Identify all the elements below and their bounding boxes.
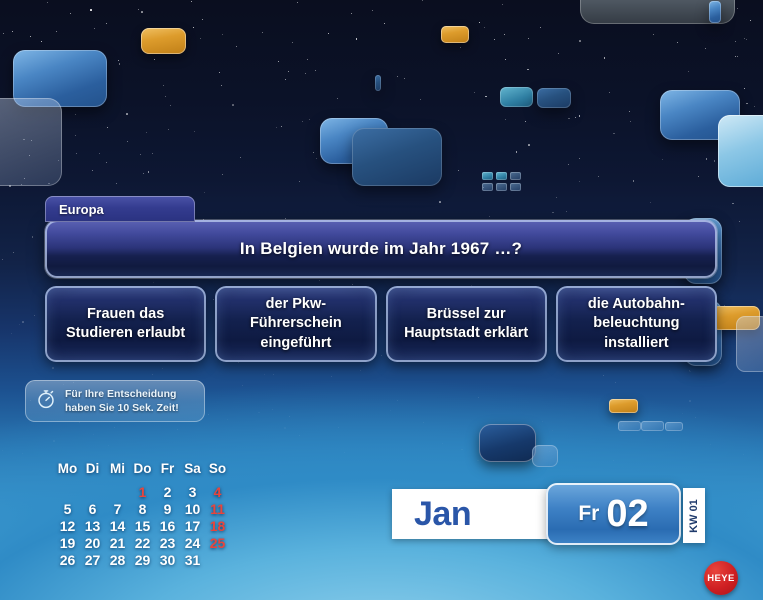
weekday-header: Do — [130, 460, 155, 483]
calendar-day[interactable]: 23 — [155, 534, 180, 551]
question-panel: In Belgien wurde im Jahr 1967 …? — [45, 220, 717, 278]
calendar-week-row: 1234 — [55, 483, 230, 500]
bg-tile-grid — [482, 172, 521, 191]
calendar-day[interactable]: 8 — [130, 500, 155, 517]
bg-grid-cell — [510, 172, 521, 180]
answer-label: die Autobahn-beleuchtung installiert — [564, 295, 709, 352]
bg-tile-orange-4 — [609, 399, 638, 413]
answer-option-3[interactable]: Brüssel zur Hauptstadt erklärt — [386, 286, 547, 362]
answer-option-1[interactable]: Frauen das Studieren erlaubt — [45, 286, 206, 362]
answer-options: Frauen das Studieren erlaubt der Pkw-Füh… — [45, 286, 717, 362]
calendar-day[interactable]: 26 — [55, 551, 80, 568]
stopwatch-icon — [35, 388, 57, 415]
calendar-quiz-page: Europa In Belgien wurde im Jahr 1967 …? … — [0, 0, 763, 600]
answer-option-2[interactable]: der Pkw-Führerschein eingeführt — [215, 286, 376, 362]
question-text: In Belgien wurde im Jahr 1967 …? — [240, 239, 522, 259]
calendar-day[interactable]: 6 — [80, 500, 105, 517]
calendar-day[interactable]: 17 — [180, 517, 205, 534]
day-box: Fr 02 — [546, 483, 681, 545]
calendar-week-row: 19202122232425 — [55, 534, 230, 551]
day-number: 02 — [606, 495, 648, 533]
bg-tile-dark-1 — [352, 128, 442, 186]
calendar-header-row: Mo Di Mi Do Fr Sa So — [55, 460, 230, 483]
week-number-label: KW 01 — [688, 499, 700, 533]
month-label: Jan — [392, 495, 471, 534]
answer-label: Brüssel zur Hauptstadt erklärt — [394, 305, 539, 343]
month-box: Jan — [392, 489, 552, 539]
calendar-day[interactable]: 15 — [130, 517, 155, 534]
heye-logo: HEYE — [704, 561, 738, 595]
bg-grid-cell — [482, 183, 493, 191]
bg-tile-orange-1 — [141, 28, 186, 54]
month-calendar: Mo Di Mi Do Fr Sa So 1234567891011121314… — [55, 460, 230, 568]
heye-logo-text: HEYE — [707, 573, 734, 584]
weekday-header: Fr — [155, 460, 180, 483]
calendar-day[interactable]: 22 — [130, 534, 155, 551]
calendar-week-row: 567891011 — [55, 500, 230, 517]
bg-tile-soft-1 — [618, 421, 641, 431]
calendar-day[interactable]: 2 — [155, 483, 180, 500]
week-number-box: KW 01 — [683, 488, 705, 543]
calendar-week-row: 12131415161718 — [55, 517, 230, 534]
bg-grid-cell — [496, 183, 507, 191]
bg-grid-cell — [510, 183, 521, 191]
weekday-header: So — [205, 460, 230, 483]
calendar-table: Mo Di Mi Do Fr Sa So 1234567891011121314… — [55, 460, 230, 568]
calendar-day[interactable]: 12 — [55, 517, 80, 534]
calendar-day[interactable]: 21 — [105, 534, 130, 551]
timer-hint-text: Für Ihre Entscheidung haben Sie 10 Sek. … — [65, 387, 195, 415]
calendar-day[interactable]: 31 — [180, 551, 205, 568]
calendar-day[interactable]: 1 — [130, 483, 155, 500]
bg-tile-dark-3 — [375, 75, 381, 91]
bg-tile-soft-3 — [665, 422, 683, 431]
bg-tile-orange-2 — [441, 26, 469, 43]
bg-tile-ltblue-1 — [718, 115, 763, 187]
weekday-header: Mo — [55, 460, 80, 483]
calendar-day[interactable]: 11 — [205, 500, 230, 517]
calendar-day[interactable]: 20 — [80, 534, 105, 551]
answer-option-4[interactable]: die Autobahn-beleuchtung installiert — [556, 286, 717, 362]
calendar-day[interactable]: 18 — [205, 517, 230, 534]
calendar-day-empty — [80, 483, 105, 500]
calendar-day[interactable]: 10 — [180, 500, 205, 517]
bg-tile-blue-4 — [709, 1, 721, 23]
bg-tile-dark-2 — [537, 88, 571, 108]
calendar-day-empty — [105, 483, 130, 500]
category-tab[interactable]: Europa — [45, 196, 195, 222]
calendar-day[interactable]: 13 — [80, 517, 105, 534]
calendar-day[interactable]: 16 — [155, 517, 180, 534]
category-label: Europa — [59, 202, 104, 217]
bg-tile-ghost-1 — [0, 98, 62, 186]
calendar-day[interactable]: 3 — [180, 483, 205, 500]
calendar-day-empty — [205, 551, 230, 568]
calendar-day-empty — [55, 483, 80, 500]
weekday-header: Di — [80, 460, 105, 483]
calendar-week-row: 262728293031 — [55, 551, 230, 568]
calendar-day[interactable]: 4 — [205, 483, 230, 500]
bg-tile-soft-4 — [532, 445, 558, 467]
calendar-day[interactable]: 7 — [105, 500, 130, 517]
bg-tile-navy-1 — [479, 424, 536, 462]
bg-tile-teal-1 — [500, 87, 533, 107]
weekday-header: Sa — [180, 460, 205, 483]
calendar-body: 1234567891011121314151617181920212223242… — [55, 483, 230, 568]
quiz-panel: Europa In Belgien wurde im Jahr 1967 …? … — [45, 196, 717, 362]
bg-grid-cell — [496, 172, 507, 180]
weekday-header: Mi — [105, 460, 130, 483]
calendar-day[interactable]: 29 — [130, 551, 155, 568]
date-display: Jan Fr 02 KW 01 — [392, 489, 705, 545]
bg-tile-ghost-2 — [736, 316, 763, 372]
weekday-label: Fr — [578, 502, 599, 526]
calendar-day[interactable]: 25 — [205, 534, 230, 551]
calendar-day[interactable]: 14 — [105, 517, 130, 534]
calendar-day[interactable]: 19 — [55, 534, 80, 551]
answer-label: der Pkw-Führerschein eingeführt — [223, 295, 368, 352]
calendar-day[interactable]: 28 — [105, 551, 130, 568]
calendar-day[interactable]: 9 — [155, 500, 180, 517]
bg-tile-soft-2 — [641, 421, 664, 431]
timer-hint: Für Ihre Entscheidung haben Sie 10 Sek. … — [25, 380, 205, 422]
calendar-day[interactable]: 5 — [55, 500, 80, 517]
calendar-day[interactable]: 30 — [155, 551, 180, 568]
answer-label: Frauen das Studieren erlaubt — [53, 305, 198, 343]
bg-grid-cell — [482, 172, 493, 180]
calendar-day[interactable]: 27 — [80, 551, 105, 568]
calendar-day[interactable]: 24 — [180, 534, 205, 551]
